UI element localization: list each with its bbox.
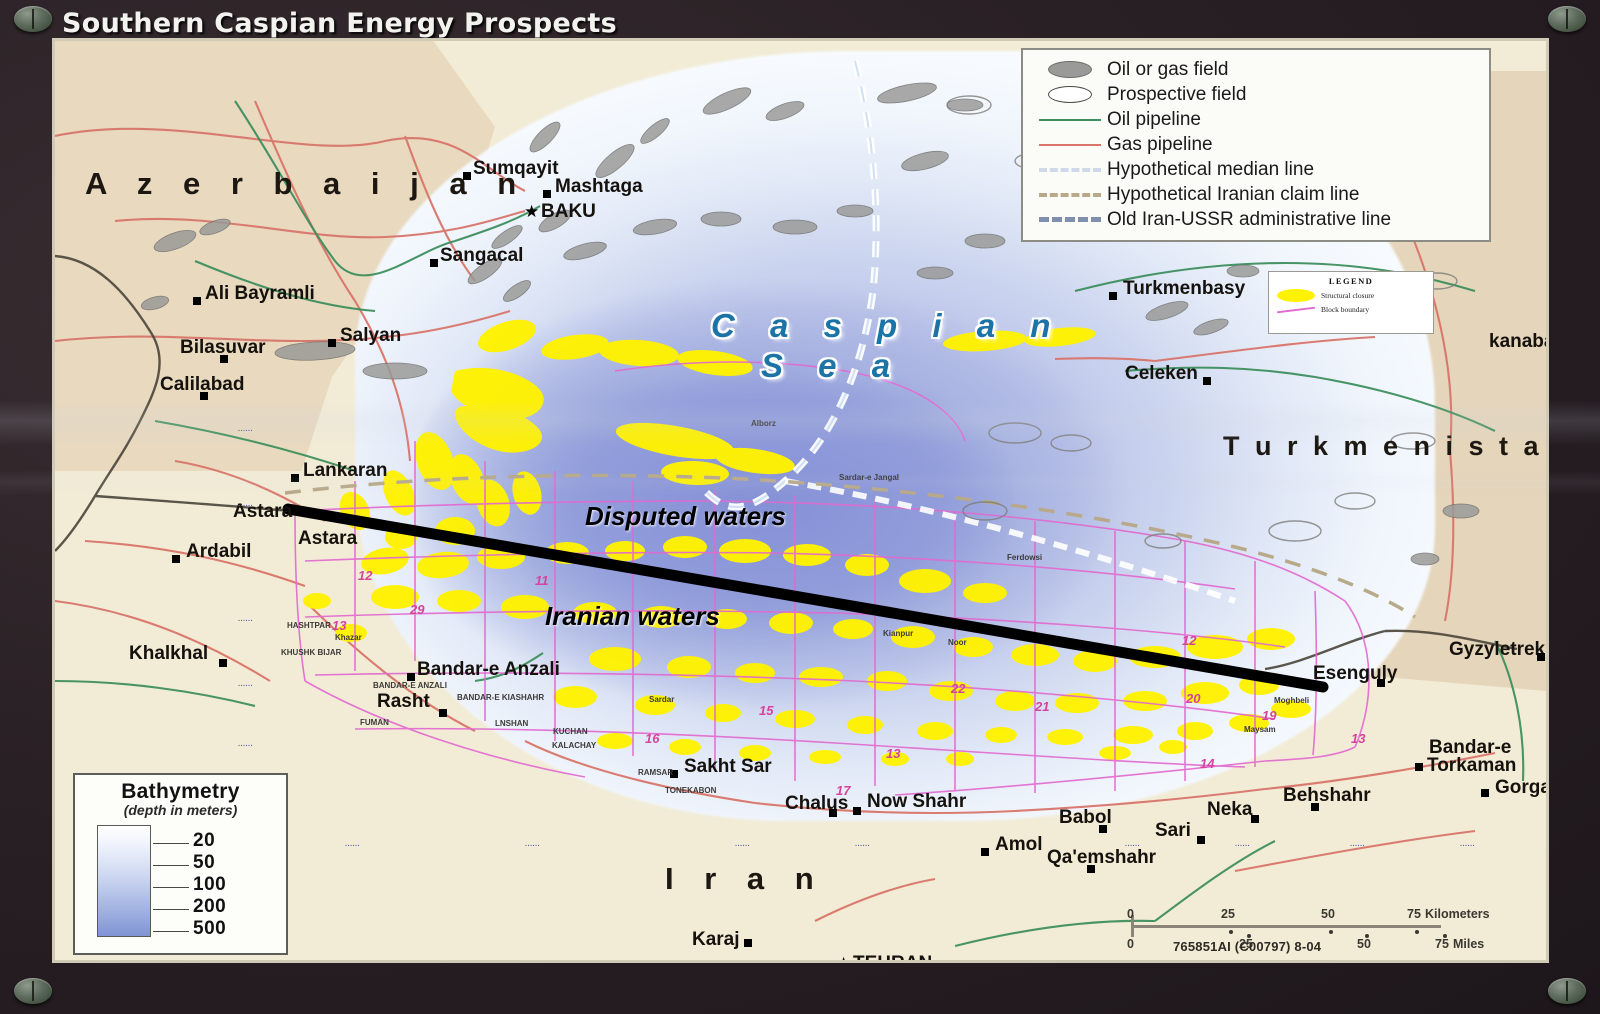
- yellow-blob-icon: [1277, 289, 1321, 302]
- graticule-tick-5: ······: [1235, 841, 1250, 850]
- legend-label: Oil pipeline: [1107, 109, 1201, 131]
- field-label-fuman-13: FUMAN: [360, 718, 389, 727]
- city-label-turkmenbasy: Turkmenbasy: [1123, 278, 1245, 300]
- field-label-kuchan-15: KUCHAN: [553, 727, 588, 736]
- block-number-8: 19: [1262, 708, 1276, 723]
- bathymetry-tick-100: 100: [193, 874, 226, 896]
- block-number-6: 12: [1182, 633, 1196, 648]
- block-number-3: 29: [410, 602, 424, 617]
- capital-star-tehran: ★: [836, 955, 851, 963]
- scale-mi-50: 50: [1357, 937, 1371, 951]
- country-label-a-z-e-r-b-a-i-j-a-n: A z e r b a i j a n: [85, 166, 527, 202]
- city-label-kanabat: kanabat: [1489, 331, 1549, 353]
- bathymetry-scale: 20 50 100 200 500: [75, 825, 286, 943]
- bathymetry-color-ramp: [97, 825, 151, 937]
- city-label-khalkhal: Khalkhal: [129, 643, 208, 665]
- city-label-celeken: Celeken: [1125, 363, 1198, 385]
- legend-label: Old Iran-USSR administrative line: [1107, 209, 1391, 231]
- city-dot-esenguly: [1377, 679, 1385, 687]
- legend-label: Hypothetical Iranian claim line: [1107, 184, 1359, 206]
- legend-row-median-line: Hypothetical median line: [1033, 157, 1479, 182]
- scale-km-unit: Kilometers: [1425, 907, 1490, 921]
- legend-row-oil-pipeline: Oil pipeline: [1033, 107, 1479, 132]
- screw-bottom-left: [14, 978, 52, 1004]
- city-dot-behshahr: [1311, 803, 1319, 811]
- block-number-2: 11: [535, 573, 549, 588]
- scale-mi-0: 0: [1127, 937, 1134, 951]
- inner-legend-row-structural-closure: Structural closure: [1269, 289, 1433, 302]
- field-label-sardar-4: Sardar: [649, 695, 674, 704]
- block-number-11: 16: [645, 731, 659, 746]
- city-dot-torkaman: [1415, 763, 1423, 771]
- graticule-tick-12: ······: [238, 741, 253, 750]
- scale-mi-unit: Miles: [1453, 937, 1484, 951]
- graticule-tick-1: ······: [525, 841, 540, 850]
- city-dot-rasht: [439, 709, 447, 717]
- field-label-ferdowsi-2: Ferdowsi: [1007, 553, 1042, 562]
- graticule-tick-3: ······: [855, 841, 870, 850]
- graticule-tick-0: ······: [345, 841, 360, 850]
- screw-top-right: [1548, 6, 1586, 32]
- block-number-10: 14: [1200, 756, 1214, 771]
- city-dot-sangacal: [430, 259, 438, 267]
- city-dot-bandar-e-anzali: [407, 673, 415, 681]
- filled-ellipse-icon: [1033, 61, 1107, 78]
- city-dot-mashtaga: [543, 190, 551, 198]
- city-dot-karaj: [744, 939, 752, 947]
- city-label-gyzyletrek: Gyzyletrek: [1449, 639, 1545, 661]
- city-label-karaj: Karaj: [692, 929, 740, 951]
- field-label-moghbeli-8: Moghbeli: [1274, 696, 1309, 705]
- city-dot-calilabad: [200, 392, 208, 400]
- city-label-baku: BAKU: [541, 201, 596, 223]
- block-number-7: 20: [1186, 691, 1200, 706]
- city-label-astara: Astara: [298, 528, 357, 550]
- legend-row-gas-pipeline: Gas pipeline: [1033, 132, 1479, 157]
- field-label-khushk-bijar-10: KHUSHK BIJAR: [281, 648, 341, 657]
- city-dot-amol: [981, 848, 989, 856]
- city-label-lankaran: Lankaran: [303, 460, 387, 482]
- legend-label: Prospective field: [1107, 84, 1246, 106]
- capital-star-baku: ★: [524, 203, 539, 220]
- map-attribution: 765851AI (C00797) 8-04: [1173, 939, 1321, 954]
- bathymetry-tick-20: 20: [193, 830, 215, 852]
- field-label-kalachay-16: KALACHAY: [552, 741, 596, 750]
- city-dot-qa-emshahr: [1087, 865, 1095, 873]
- main-legend[interactable]: Oil or gas field Prospective field Oil p…: [1021, 48, 1491, 242]
- block-number-14: 17: [836, 783, 850, 798]
- annotation-disputed-waters: Disputed waters: [585, 501, 786, 532]
- city-dot-chalus: [829, 809, 837, 817]
- city-label-sumqayit: Sumqayit: [473, 158, 559, 180]
- city-label-mashtaga: Mashtaga: [555, 176, 643, 198]
- graticule-tick-4: ······: [1125, 841, 1140, 850]
- graticule-tick-2: ······: [735, 841, 750, 850]
- gas-pipeline-line-icon: [1033, 144, 1107, 146]
- city-dot-ardabil: [172, 555, 180, 563]
- bathymetry-title: Bathymetry: [75, 780, 286, 804]
- city-label-rasht: Rasht: [377, 691, 430, 713]
- legend-row-prospective-field: Prospective field: [1033, 82, 1479, 107]
- city-dot-now-shahr: [853, 807, 861, 815]
- legend-label: Gas pipeline: [1107, 134, 1213, 156]
- city-dot-neka: [1251, 815, 1259, 823]
- field-label-kianpur-5: Kianpur: [883, 629, 913, 638]
- screw-bottom-right: [1548, 978, 1586, 1004]
- oil-pipeline-line-icon: [1033, 119, 1107, 121]
- city-dot-turkmenbasy: [1109, 292, 1117, 300]
- block-number-1: 13: [332, 618, 346, 633]
- city-label-ali-bayramli: Ali Bayramli: [205, 283, 315, 305]
- city-label-gorgan: Gorgan: [1495, 777, 1549, 799]
- graticule-tick-11: ······: [238, 681, 253, 690]
- city-label-sakht-sar: Sakht Sar: [684, 756, 772, 778]
- legend-label: Oil or gas field: [1107, 59, 1228, 81]
- bathymetry-tick-500: 500: [193, 918, 226, 940]
- block-number-5: 21: [1035, 699, 1049, 714]
- bathymetry-subtitle: (depth in meters): [75, 802, 286, 818]
- city-label-qa-emshahr: Qa'emshahr: [1047, 847, 1156, 869]
- city-label-now-shahr: Now Shahr: [867, 791, 966, 813]
- graticule-tick-10: ······: [238, 616, 253, 625]
- legend-row-iranian-claim-line: Hypothetical Iranian claim line: [1033, 182, 1479, 207]
- graticule-tick-9: ······: [238, 501, 253, 510]
- iranian-claim-line-icon: [1033, 193, 1107, 197]
- map-plate: C a s p i a n S e a A z e r b a i j a nT…: [52, 38, 1549, 963]
- iran-ussr-line-icon: [1033, 217, 1107, 222]
- page-title: Southern Caspian Energy Prospects: [62, 8, 617, 39]
- magenta-line-icon: [1277, 309, 1321, 311]
- block-number-13: 13: [886, 746, 900, 761]
- legend-row-iran-ussr-line: Old Iran-USSR administrative line: [1033, 207, 1479, 232]
- scale-mi-75: 75: [1435, 937, 1449, 951]
- field-label-ramsar-17: RAMSAR: [638, 768, 673, 777]
- framed-map-board: Southern Caspian Energy Prospects: [0, 0, 1600, 1014]
- city-label-ardabil: Ardabil: [186, 541, 251, 563]
- median-line-icon: [1033, 168, 1107, 172]
- city-label-neka: Neka: [1207, 799, 1252, 821]
- city-dot-babol: [1099, 825, 1107, 833]
- city-dot-bilasuvar: [220, 355, 228, 363]
- city-dot-sumqayit: [463, 172, 471, 180]
- field-label-tonekabon-18: TONEKABON: [665, 786, 716, 795]
- scale-km-25: 25: [1221, 907, 1235, 921]
- scale-km-50: 50: [1321, 907, 1335, 921]
- scale-km-0: 0: [1127, 907, 1134, 921]
- city-dot-sari: [1197, 836, 1205, 844]
- field-label-bandar-e-kiashahr-12: BANDAR-E KIASHAHR: [457, 693, 544, 702]
- bathymetry-tick-200: 200: [193, 896, 226, 918]
- city-label-sangacal: Sangacal: [440, 245, 523, 267]
- field-label-lnshan-14: LNSHAN: [495, 719, 528, 728]
- city-label-amol: Amol: [995, 834, 1043, 856]
- city-dot-gyzyletrek: [1537, 653, 1545, 661]
- legend-row-oil-or-gas-field: Oil or gas field: [1033, 57, 1479, 82]
- bathymetry-tick-50: 50: [193, 852, 215, 874]
- scale-km-75: 75: [1407, 907, 1421, 921]
- sea-label-line2: S e a: [761, 347, 903, 385]
- country-label-i-r-a-n: I r a n: [665, 861, 825, 897]
- city-dot-khalkhal: [219, 659, 227, 667]
- city-label-bandar-e-anzali: Bandar-e Anzali: [417, 659, 560, 681]
- city-dot-lankaran: [291, 474, 299, 482]
- sea-label-line1: C a s p i a n: [711, 307, 1063, 345]
- city-label-torkaman: Torkaman: [1427, 755, 1516, 777]
- open-ellipse-icon: [1033, 86, 1107, 103]
- screw-top-left: [14, 6, 52, 32]
- block-number-4: 22: [951, 681, 965, 696]
- field-label-alborz-0: Alborz: [751, 419, 776, 428]
- inner-legend-title: LEGEND: [1269, 276, 1433, 286]
- field-label-sardar-e-jangal-1: Sardar-e Jangal: [839, 473, 899, 482]
- annotation-iranian-waters: Iranian waters: [545, 601, 720, 632]
- city-dot-ali-bayramli: [193, 297, 201, 305]
- field-label-bandar-e-anzali-11: BANDAR-E ANZALI: [373, 681, 447, 690]
- inner-legend[interactable]: LEGEND Structural closure Block boundary: [1268, 271, 1434, 334]
- block-number-12: 15: [759, 703, 773, 718]
- graticule-tick-7: ······: [1460, 841, 1475, 850]
- city-dot-celeken: [1203, 377, 1211, 385]
- field-label-khazar-3: Khazar: [335, 633, 362, 642]
- inner-legend-row-block-boundary: Block boundary: [1269, 305, 1433, 314]
- graticule-tick-6: ······: [1350, 841, 1365, 850]
- block-number-9: 13: [1351, 731, 1365, 746]
- city-label-sari: Sari: [1155, 820, 1191, 842]
- legend-label: Hypothetical median line: [1107, 159, 1314, 181]
- city-label-tehran: TEHRAN: [853, 953, 932, 963]
- inner-legend-label: Structural closure: [1321, 291, 1374, 300]
- city-dot-gorgan: [1481, 789, 1489, 797]
- country-label-t-u-r-k-m-e-n-i-s-t-a-n: T u r k m e n i s t a n: [1223, 431, 1549, 462]
- city-dot-salyan: [328, 339, 336, 347]
- inner-legend-label: Block boundary: [1321, 305, 1369, 314]
- city-label-salyan: Salyan: [340, 325, 401, 347]
- field-label-hashtpar-9: HASHTPAR: [287, 621, 331, 630]
- block-number-0: 12: [358, 568, 372, 583]
- field-label-noor-6: Noor: [948, 638, 967, 647]
- bathymetry-legend[interactable]: Bathymetry (depth in meters) 20 50 100 2…: [73, 773, 288, 955]
- graticule-tick-8: ······: [238, 426, 253, 435]
- field-label-maysam-7: Maysam: [1244, 725, 1276, 734]
- city-label-behshahr: Behshahr: [1283, 785, 1371, 807]
